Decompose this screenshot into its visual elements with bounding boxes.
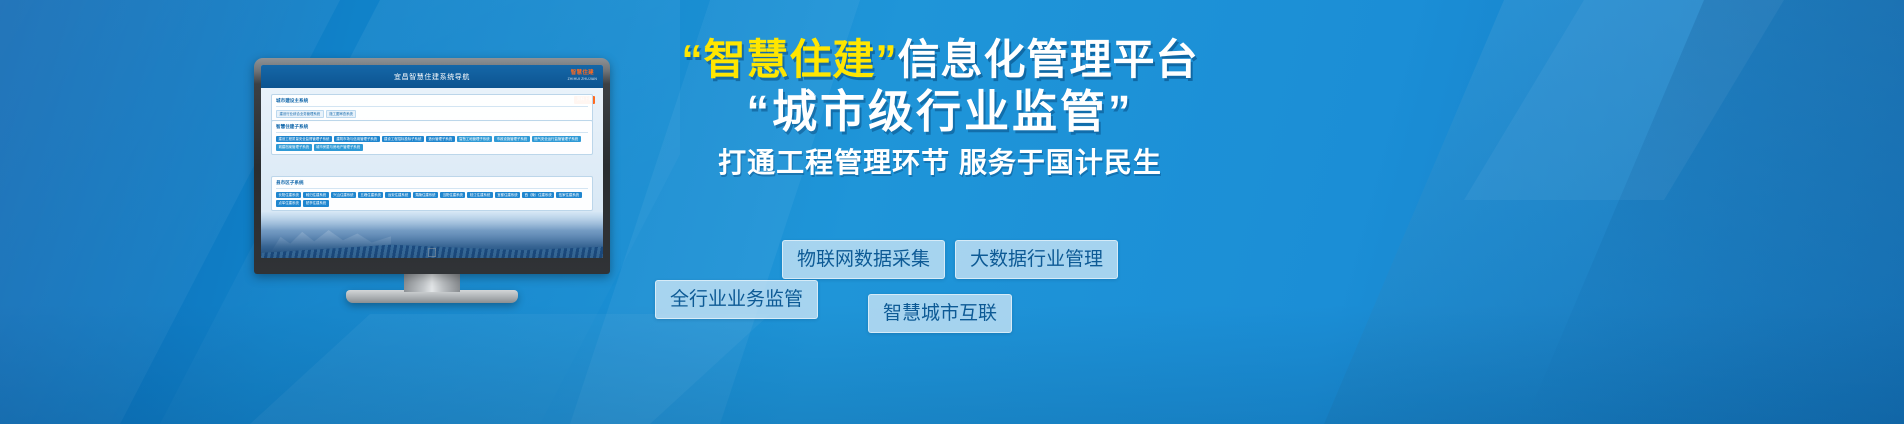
system-chip[interactable]: 五峰住建系统 [358, 192, 383, 198]
headline-line-2: “城市级行业监管” [640, 85, 1240, 138]
system-chip[interactable]: 当阳住建系统 [440, 192, 465, 198]
panel-chip-list: 建设工程质量安全监督管理子系统 建筑市场与信用管理子系统 建设工程招标投标子系统… [276, 136, 588, 151]
panel-title: 县市区子系统 [276, 180, 588, 189]
system-chip[interactable]: 市政设施管理子系统 [494, 136, 530, 142]
panel-chip-list: 长阳住建系统 秭归住建系统 兴山住建系统 五峰住建系统 远安住建系统 夷陵住建系… [276, 192, 588, 207]
system-chip[interactable]: 建设工程质量安全监督管理子系统 [276, 136, 332, 142]
system-chip[interactable]: 宜都住建系统 [495, 192, 520, 198]
system-chip[interactable]: 兴山住建系统 [331, 192, 356, 198]
monitor-bezel: 宜昌智慧住建系统导航 智慧住建 ZHIHUI ZHUJIAN 资料下载 城市建设… [254, 58, 610, 274]
background-facet-4 [1524, 0, 1904, 424]
headline-line-3: 打通工程管理环节 服务于国计民生 [640, 146, 1240, 180]
headline-line-1: “智慧住建”信息化管理平台 [640, 36, 1240, 83]
screen-panel-sub-systems: 智慧住建子系统 建设工程质量安全监督管理子系统 建筑市场与信用管理子系统 建设工… [271, 120, 593, 155]
headline-line-1-rest: 信息化管理平台 [898, 36, 1199, 83]
system-chip[interactable]: 建筑市场与信用管理子系统 [334, 136, 380, 142]
background-facet-7 [250, 314, 770, 424]
screen-body: 资料下载 城市建设主系统 建设行业综合业务管理系统 施工图审查系统 智慧住建子系… [261, 88, 603, 258]
system-chip[interactable]: 施工图审查系统 [326, 110, 357, 118]
system-chip[interactable]: 伍家住建系统 [556, 192, 581, 198]
imac-monitor-mockup: 宜昌智慧住建系统导航 智慧住建 ZHIHUI ZHUJIAN 资料下载 城市建设… [254, 58, 610, 303]
system-chip[interactable]: 城建档案管理子系统 [276, 144, 312, 150]
feature-badge-iot-data-collection[interactable]: 物联网数据采集 [782, 240, 945, 279]
system-chip[interactable]: 建设工程招标投标子系统 [382, 136, 424, 142]
system-chip[interactable]: 秭归住建系统 [303, 192, 328, 198]
feature-badge-bigdata-industry-management[interactable]: 大数据行业管理 [955, 240, 1118, 279]
feature-badge-all-industry-supervision[interactable]: 全行业业务监管 [655, 280, 818, 319]
system-chip[interactable]: 燃气安全运行监管管理子系统 [532, 136, 581, 142]
panel-chip-list: 建设行业综合业务管理系统 施工图审查系统 [276, 110, 588, 118]
system-chip[interactable]: 枝江住建系统 [467, 192, 492, 198]
system-chip[interactable]: 夷陵住建系统 [413, 192, 438, 198]
system-chip[interactable]: 西（陵）住建系统 [522, 192, 554, 198]
system-chip[interactable]: 远安住建系统 [385, 192, 410, 198]
panel-title: 智慧住建子系统 [276, 124, 588, 133]
system-chip[interactable]: 造价管理子系统 [426, 136, 455, 142]
system-chip[interactable]: 智慧工地管理子系统 [457, 136, 493, 142]
screen-logo-en: ZHIHUI ZHUJIAN [568, 77, 597, 81]
apple-logo-icon:  [427, 246, 437, 259]
headline-block: “智慧住建”信息化管理平台 “城市级行业监管” 打通工程管理环节 服务于国计民生 [640, 36, 1240, 180]
system-chip[interactable]: 城市房屋与房地产管理子系统 [314, 144, 363, 150]
system-chip[interactable]: 猇亭住建系统 [303, 200, 328, 206]
screen-logo-cn: 智慧住建 [571, 68, 594, 76]
screen-header-bar: 宜昌智慧住建系统导航 智慧住建 ZHIHUI ZHUJIAN [261, 65, 603, 88]
headline-highlight-text: 智慧住建 [703, 36, 875, 83]
screen-logo: 智慧住建 ZHIHUI ZHUJIAN [568, 68, 597, 81]
promo-banner: 宜昌智慧住建系统导航 智慧住建 ZHIHUI ZHUJIAN 资料下载 城市建设… [0, 0, 1904, 424]
system-chip[interactable]: 长阳住建系统 [276, 192, 301, 198]
headline-quote-open: “ [681, 36, 703, 83]
screen-panel-main-system: 城市建设主系统 建设行业综合业务管理系统 施工图审查系统 [271, 94, 593, 122]
screen-panel-county-systems: 县市区子系统 长阳住建系统 秭归住建系统 兴山住建系统 五峰住建系统 远安住建系… [271, 176, 593, 211]
feature-badge-smart-city-connectivity[interactable]: 智慧城市互联 [868, 294, 1012, 333]
background-facet-8 [1364, 0, 1784, 200]
headline-quote-close: ” [876, 36, 898, 83]
system-chip[interactable]: 点军住建系统 [276, 200, 301, 206]
background-facet-3 [1204, 0, 1904, 424]
panel-title: 城市建设主系统 [276, 98, 588, 107]
monitor-screen: 宜昌智慧住建系统导航 智慧住建 ZHIHUI ZHUJIAN 资料下载 城市建设… [261, 65, 603, 258]
system-chip[interactable]: 建设行业综合业务管理系统 [276, 110, 324, 118]
screen-header-title: 宜昌智慧住建系统导航 [394, 72, 470, 82]
